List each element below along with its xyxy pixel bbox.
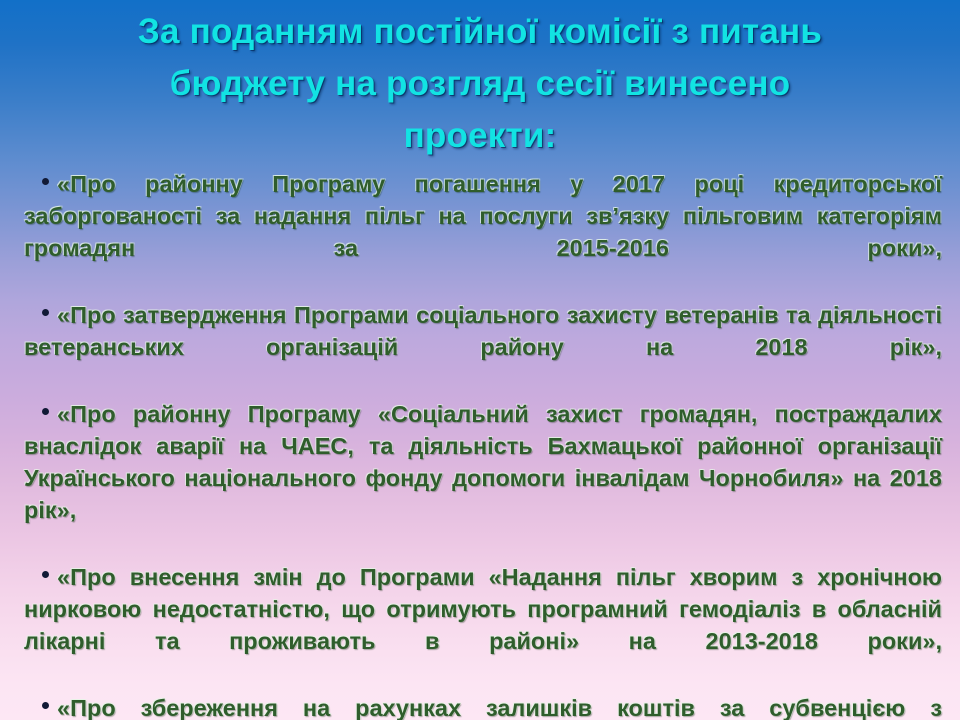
title-line-3: проекти:: [42, 110, 918, 162]
bullet-item-text: «Про збереження на рахунках залишків кош…: [24, 695, 942, 720]
bullet-item: «Про внесення змін до Програми «Надання …: [24, 561, 942, 689]
bullet-item-text: «Про внесення змін до Програми «Надання …: [24, 564, 942, 654]
bullet-dot-icon: [42, 571, 49, 578]
bullet-dot-icon: [42, 702, 49, 709]
slide-canvas: За поданням постійної комісії з питань б…: [0, 0, 960, 720]
bullet-item-text: «Про районну Програму «Соціальний захист…: [24, 401, 942, 523]
title-line-1: За поданням постійної комісії з питань: [42, 6, 918, 58]
bullet-item: «Про районну Програму «Соціальний захист…: [24, 398, 942, 558]
bullet-item: «Про затвердження Програми соціального з…: [24, 299, 942, 395]
title-line-2: бюджету на розгляд сесії винесено: [42, 58, 918, 110]
bullet-dot-icon: [42, 178, 49, 185]
bullet-item: «Про збереження на рахунках залишків кош…: [24, 692, 942, 720]
slide-title: За поданням постійної комісії з питань б…: [0, 0, 960, 162]
bullet-item-text: «Про затвердження Програми соціального з…: [24, 302, 942, 360]
bullet-item: «Про районну Програму погашення у 2017 р…: [24, 168, 942, 296]
bullet-item-text: «Про районну Програму погашення у 2017 р…: [24, 171, 942, 261]
bullet-dot-icon: [42, 408, 49, 415]
slide-body: «Про районну Програму погашення у 2017 р…: [0, 162, 960, 720]
bullet-dot-icon: [42, 309, 49, 316]
